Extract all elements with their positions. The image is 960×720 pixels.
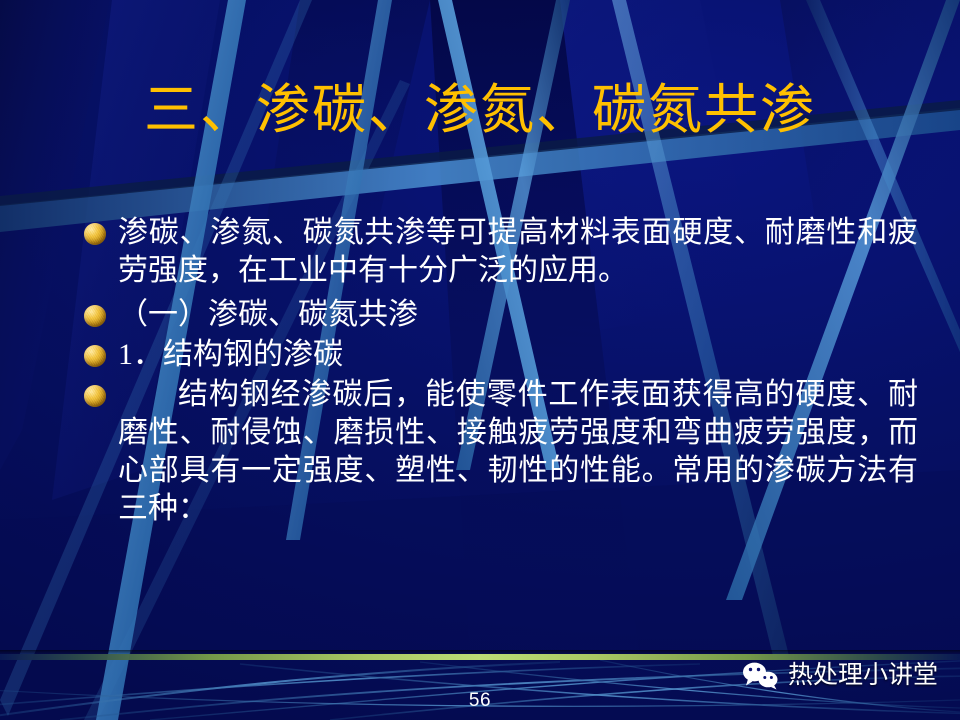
bullet-marker-icon [84,305,106,327]
presentation-slide: 三、渗碳、渗氮、碳氮共渗 渗碳、渗氮、碳氮共渗等可提高材料表面硬度、耐磨性和疲劳… [0,0,960,720]
bullet-text: 渗碳、渗氮、碳氮共渗等可提高材料表面硬度、耐磨性和疲劳强度，在工业中有十分广泛的… [118,214,918,290]
wechat-icon-shape [740,660,780,690]
bullet-item: 渗碳、渗氮、碳氮共渗等可提高材料表面硬度、耐磨性和疲劳强度，在工业中有十分广泛的… [78,214,918,290]
slide-title: 三、渗碳、渗氮、碳氮共渗 [0,82,960,139]
slide-body: 渗碳、渗氮、碳氮共渗等可提高材料表面硬度、耐磨性和疲劳强度，在工业中有十分广泛的… [78,214,918,534]
wechat-icon [740,660,780,690]
footer-brand: 热处理小讲堂 [740,660,938,690]
page-number: 56 [0,690,960,712]
bullet-item: 1．结构钢的渗碳 [78,336,918,374]
footer-brand-name: 热处理小讲堂 [788,663,938,688]
bullet-marker-icon [84,385,106,407]
bullet-text: （一）渗碳、碳氮共渗 [118,296,918,334]
bullet-item: 结构钢经渗碳后，能使零件工作表面获得高的硬度、耐磨性、耐侵蚀、磨损性、接触疲劳强… [78,376,918,528]
bullet-marker-icon [84,345,106,367]
bullet-text: 1．结构钢的渗碳 [118,336,918,374]
bullet-marker-icon [84,223,106,245]
bullet-item: （一）渗碳、碳氮共渗 [78,296,918,334]
bullet-text: 结构钢经渗碳后，能使零件工作表面获得高的硬度、耐磨性、耐侵蚀、磨损性、接触疲劳强… [118,376,918,528]
